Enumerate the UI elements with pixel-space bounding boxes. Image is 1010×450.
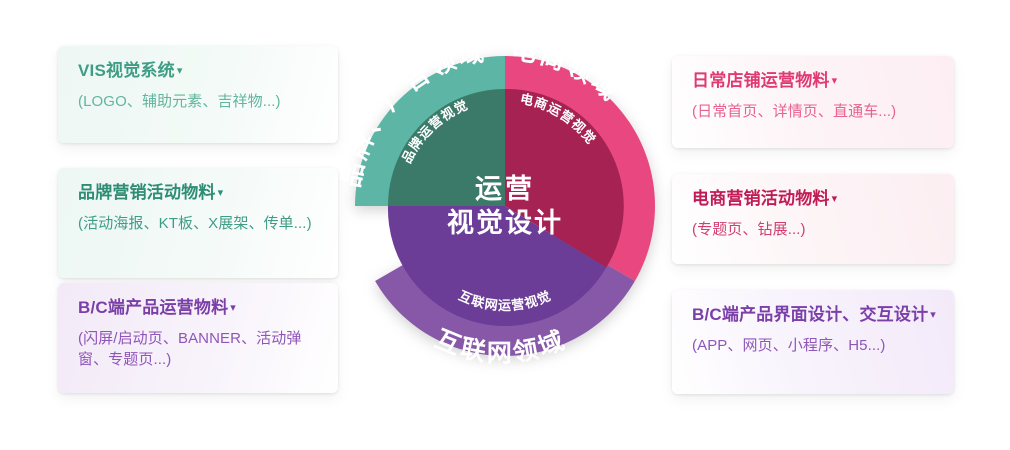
infographic-canvas: VIS视觉系统▾ (LOGO、辅助元素、吉祥物...) 品牌营销活动物料▾ (活… bbox=[0, 0, 1010, 450]
card-title-text: 电商营销活动物料 bbox=[692, 189, 830, 208]
card-subtitle: (专题页、钻展...) bbox=[692, 219, 936, 240]
chevron-down-icon[interactable]: ▾ bbox=[832, 188, 838, 210]
card-brand-marketing-materials[interactable]: 品牌营销活动物料▾ (活动海报、KT板、X展架、传单...) bbox=[58, 168, 338, 278]
card-subtitle: (日常首页、详情页、直通车...) bbox=[692, 101, 936, 122]
card-subtitle: (闪屏/启动页、BANNER、活动弹窗、专题页...) bbox=[78, 328, 320, 370]
donut-wheel: 品牌、广告领域 电商领域 互联网领域 品牌运营视觉 电商运营视觉 互联网运营视觉 bbox=[325, 26, 685, 386]
chevron-down-icon[interactable]: ▾ bbox=[218, 182, 224, 204]
card-title-text: 日常店铺运营物料 bbox=[692, 71, 830, 90]
card-title-text: VIS视觉系统 bbox=[78, 61, 175, 80]
card-ecommerce-marketing-materials[interactable]: 电商营销活动物料▾ (专题页、钻展...) bbox=[672, 174, 954, 264]
card-vis-visual-system[interactable]: VIS视觉系统▾ (LOGO、辅助元素、吉祥物...) bbox=[58, 46, 338, 143]
card-title: B/C端产品运营物料▾ bbox=[78, 297, 320, 321]
card-title-text: B/C端产品运营物料 bbox=[78, 298, 228, 317]
card-title-text: B/C端产品界面设计、交互设计 bbox=[692, 305, 928, 324]
chevron-down-icon[interactable]: ▾ bbox=[930, 304, 936, 326]
card-title: 日常店铺运营物料▾ bbox=[692, 70, 936, 94]
card-title: B/C端产品界面设计、交互设计▾ bbox=[692, 304, 936, 328]
card-bc-product-ui-interaction-design[interactable]: B/C端产品界面设计、交互设计▾ (APP、网页、小程序、H5...) bbox=[672, 290, 954, 394]
card-title: 品牌营销活动物料▾ bbox=[78, 182, 320, 206]
card-bc-product-operation-materials[interactable]: B/C端产品运营物料▾ (闪屏/启动页、BANNER、活动弹窗、专题页...) bbox=[58, 283, 338, 393]
card-subtitle: (活动海报、KT板、X展架、传单...) bbox=[78, 213, 320, 234]
card-subtitle: (LOGO、辅助元素、吉祥物...) bbox=[78, 91, 320, 112]
card-title-text: 品牌营销活动物料 bbox=[78, 183, 216, 202]
card-title: 电商营销活动物料▾ bbox=[692, 188, 936, 212]
chevron-down-icon[interactable]: ▾ bbox=[230, 297, 236, 319]
card-subtitle: (APP、网页、小程序、H5...) bbox=[692, 335, 936, 356]
chevron-down-icon[interactable]: ▾ bbox=[177, 60, 183, 82]
chevron-down-icon[interactable]: ▾ bbox=[832, 70, 838, 92]
card-title: VIS视觉系统▾ bbox=[78, 60, 320, 84]
card-daily-store-operation-materials[interactable]: 日常店铺运营物料▾ (日常首页、详情页、直通车...) bbox=[672, 56, 954, 148]
